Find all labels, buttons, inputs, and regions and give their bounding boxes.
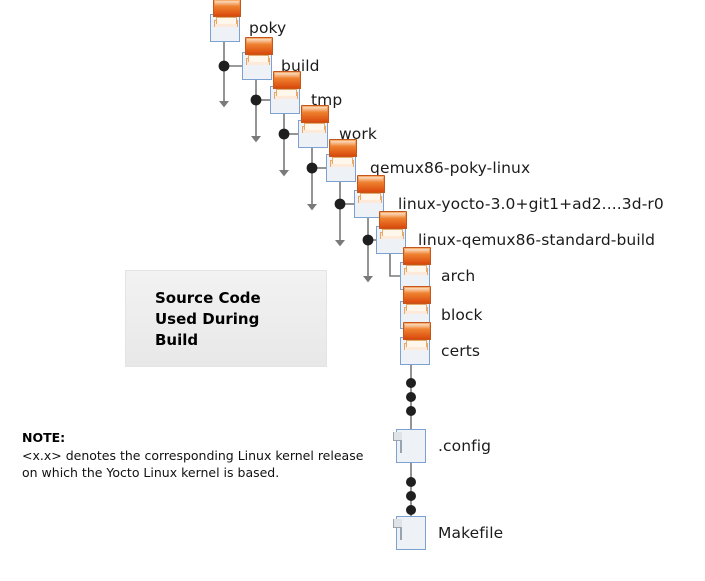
tree-node-label: linux-yocto-3.0+git1+ad2....3d-r0 xyxy=(398,195,664,213)
file-icon xyxy=(396,429,426,463)
tree-node-config[interactable]: .config xyxy=(396,429,491,463)
tree-node-label: qemux86-poky-linux xyxy=(370,159,530,177)
tree-node-certs[interactable]: certs xyxy=(400,337,480,365)
source-code-callout-text: Source Code Used During Build xyxy=(155,288,261,351)
source-code-callout: Source Code Used During Build xyxy=(125,270,327,367)
note-block: NOTE: <x.x> denotes the corresponding Li… xyxy=(22,430,382,481)
tree-node-label: .config xyxy=(438,437,491,455)
callout-line-2: Used During xyxy=(155,309,261,330)
folder-icon xyxy=(210,14,240,42)
folder-icon xyxy=(326,154,356,182)
file-icon xyxy=(396,516,426,550)
note-heading: NOTE: xyxy=(22,430,382,445)
diagram-canvas: poky build tmp work qemux86-poky-linux l… xyxy=(0,0,705,581)
tree-node-label: certs xyxy=(441,342,480,360)
folder-icon xyxy=(400,337,430,365)
tree-connectors xyxy=(0,0,705,581)
folder-icon xyxy=(270,86,300,114)
tree-node-label: poky xyxy=(249,19,286,37)
callout-line-1: Source Code xyxy=(155,288,261,309)
folder-icon xyxy=(298,120,328,148)
tree-node-label: arch xyxy=(441,267,475,285)
tree-node-label: Makefile xyxy=(438,524,503,542)
tree-node-makefile[interactable]: Makefile xyxy=(396,516,503,550)
note-body: <x.x> denotes the corresponding Linux ke… xyxy=(22,447,382,481)
folder-icon xyxy=(376,226,406,254)
folder-icon xyxy=(242,52,272,80)
tree-node-label: linux-qemux86-standard-build xyxy=(418,231,655,249)
tree-node-label: block xyxy=(441,306,483,324)
callout-line-3: Build xyxy=(155,330,261,351)
